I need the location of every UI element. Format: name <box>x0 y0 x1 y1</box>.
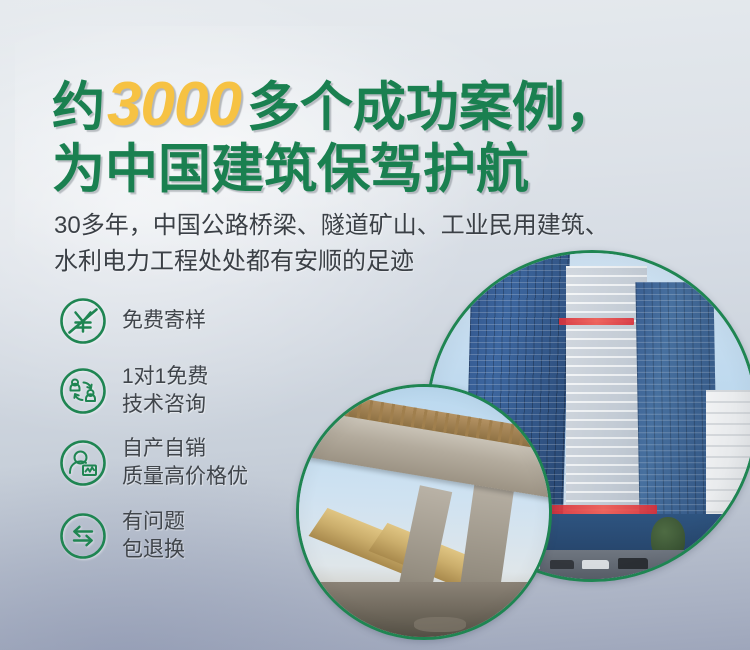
headline-prefix: 约 <box>52 78 105 137</box>
headline-suffix: 多个成功案例， <box>247 78 618 137</box>
feature-label: 免费寄样 <box>122 307 206 335</box>
person-chart-icon <box>58 438 108 488</box>
photo-vignette <box>299 387 549 637</box>
no-money-icon <box>58 296 108 346</box>
feature-item-consultation[interactable]: 1对1免费 技术咨询 <box>58 363 248 418</box>
feature-list: 免费寄样 <box>58 296 248 580</box>
feature-item-return-exchange[interactable]: 有问题 包退换 <box>58 508 248 563</box>
feature-line: 技术咨询 <box>122 391 208 419</box>
headline: 约3000多个成功案例， 为中国建筑保驾护航 <box>52 72 712 198</box>
bridge-scene <box>299 387 549 637</box>
feature-label: 自产自销 质量高价格优 <box>122 435 248 490</box>
feature-label: 1对1免费 技术咨询 <box>122 363 208 418</box>
subheadline: 30多年，中国公路桥梁、隧道矿山、工业民用建筑、 水利电力工程处处都有安顺的足迹 <box>54 208 726 281</box>
banner-root: 约3000多个成功案例， 为中国建筑保驾护航 30多年，中国公路桥梁、隧道矿山、… <box>0 0 750 650</box>
feature-line: 包退换 <box>122 536 185 564</box>
swap-arrows-icon <box>58 511 108 561</box>
subheadline-line-2: 水利电力工程处处都有安顺的足迹 <box>54 244 726 280</box>
feature-line: 免费寄样 <box>122 307 206 335</box>
subheadline-line-1: 30多年，中国公路桥梁、隧道矿山、工业民用建筑、 <box>54 208 726 244</box>
headline-number: 3000 <box>105 70 247 139</box>
feature-line: 1对1免费 <box>122 363 208 391</box>
feature-label: 有问题 包退换 <box>122 508 185 563</box>
feature-line: 质量高价格优 <box>122 463 248 491</box>
feature-line: 自产自销 <box>122 435 248 463</box>
headline-line-2: 为中国建筑保驾护航 <box>52 142 712 198</box>
two-people-exchange-icon <box>58 366 108 416</box>
feature-line: 有问题 <box>122 508 185 536</box>
rubble <box>329 619 367 632</box>
bridge-photo <box>296 384 552 640</box>
headline-line-1: 约3000多个成功案例， <box>52 72 712 138</box>
feature-item-free-sample[interactable]: 免费寄样 <box>58 296 248 346</box>
feature-item-self-production[interactable]: 自产自销 质量高价格优 <box>58 435 248 490</box>
